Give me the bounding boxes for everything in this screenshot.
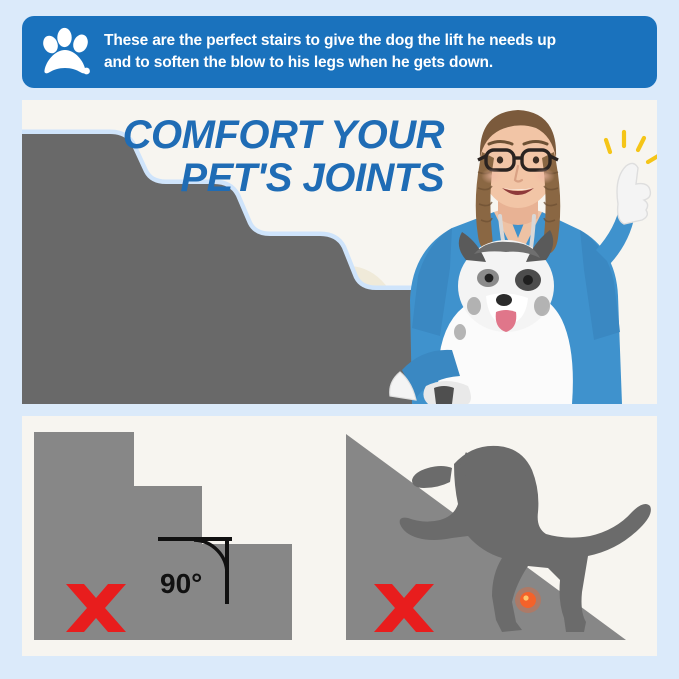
angle-label: 90° (160, 568, 202, 599)
page-title: COMFORT YOUR PET'S JOINTS (123, 114, 444, 200)
banner-text: These are the perfect stairs to give the… (104, 30, 556, 75)
infographic-page: These are the perfect stairs to give the… (0, 0, 679, 679)
title-line-1: COMFORT YOUR (123, 113, 444, 157)
paw-print-icon (38, 24, 94, 80)
banner-line-1: These are the perfect stairs to give the… (104, 32, 556, 49)
banner-line-2: and to soften the blow to his legs when … (104, 52, 556, 74)
sharp-90-degree-stairs-figure: 90° (22, 416, 322, 656)
steep-ramp-with-dog-figure (332, 416, 657, 656)
info-banner: These are the perfect stairs to give the… (22, 16, 657, 88)
warning-panel: 90° (22, 416, 657, 656)
hero-panel: COMFORT YOUR PET'S JOINTS (22, 100, 657, 404)
title-line-2: PET'S JOINTS (123, 157, 444, 200)
orange-joint-highlight (515, 587, 541, 613)
